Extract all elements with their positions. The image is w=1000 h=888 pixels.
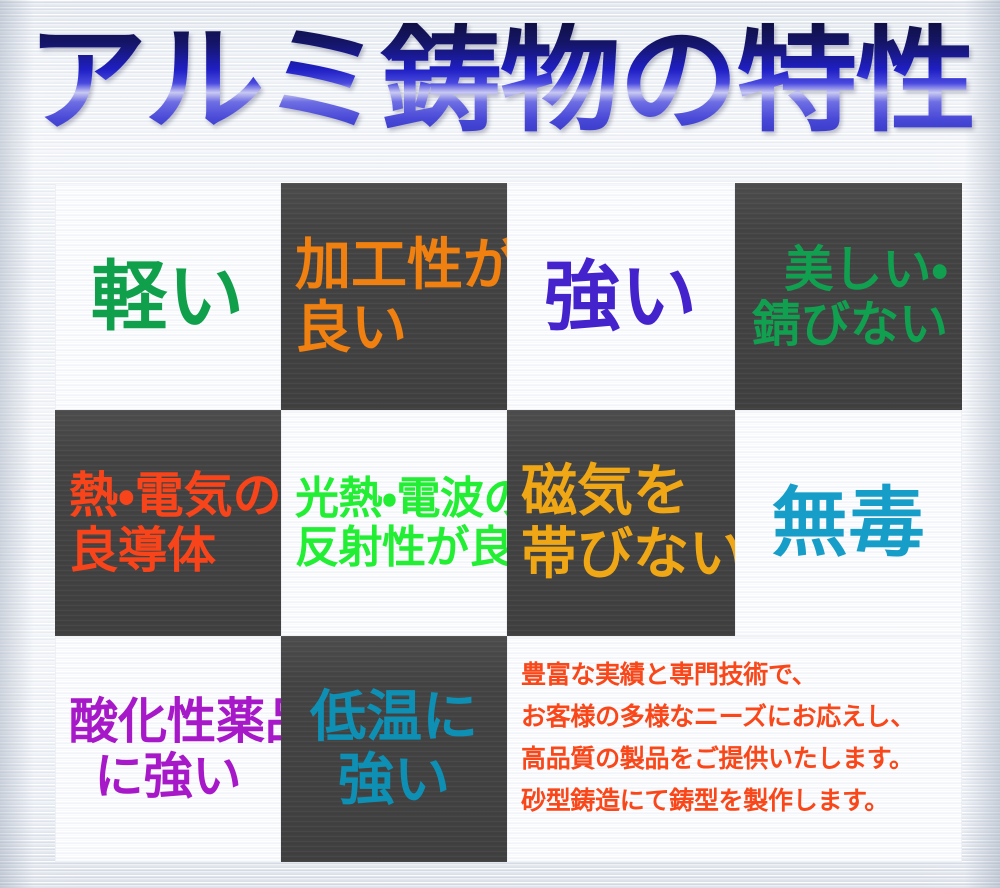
cell-reflectivity-line-2: 反射性が良い xyxy=(295,523,493,572)
cell-light-weight: 軽い xyxy=(55,183,281,410)
cell-low-temperature-label: 低温に強い xyxy=(281,686,507,811)
cell-non-toxic: 無毒 xyxy=(735,410,962,636)
page-title: アルミ鋳物の特性 xyxy=(26,23,973,139)
cell-non-magnetic-line-2: 帯びない xyxy=(521,523,721,586)
cell-acid-resistant-line-1: 酸化性薬品 xyxy=(69,694,267,749)
cell-company-note: 豊富な実績と専門技術で、お客様の多様なニーズにお応えし、高品質の製品をご提供いた… xyxy=(507,636,962,862)
cell-light-weight-line-1: 軽い xyxy=(69,254,267,339)
cell-machinability: 加工性が良い xyxy=(281,183,507,410)
slide-root: アルミ鋳物の特性 軽い加工性が良い強い美しい・錆びない熱・電気の良導体光熱・電波… xyxy=(0,0,1000,888)
cell-reflectivity-label: 光熱・電波の反射性が良い xyxy=(281,474,507,573)
cell-reflectivity-line-1: 光熱・電波の xyxy=(295,474,493,523)
cell-non-magnetic: 磁気を帯びない xyxy=(507,410,735,636)
cell-acid-resistant: 酸化性薬品に強い xyxy=(55,636,281,862)
cell-heat-electric-conductor-label: 熱・電気の良導体 xyxy=(55,468,281,578)
cell-strong-line-1: 強い xyxy=(521,254,721,339)
cell-company-note-line-1: 豊富な実績と専門技術で、 xyxy=(521,654,954,696)
cell-non-toxic-label: 無毒 xyxy=(735,480,962,565)
cell-beautiful-rustfree-label: 美しい・錆びない xyxy=(735,242,962,352)
cell-non-toxic-line-1: 無毒 xyxy=(749,480,948,565)
cell-machinability-label: 加工性が良い xyxy=(281,234,507,359)
cell-company-note-line-2: お客様の多様なニーズにお応えし、 xyxy=(521,696,954,738)
title-banner: アルミ鋳物の特性 xyxy=(0,6,1000,156)
cell-low-temperature-line-1: 低温に xyxy=(295,686,493,749)
cell-acid-resistant-line-2: に強い xyxy=(69,749,267,804)
cell-company-note-text: 豊富な実績と専門技術で、お客様の多様なニーズにお応えし、高品質の製品をご提供いた… xyxy=(507,654,962,822)
cell-low-temperature-line-2: 強い xyxy=(295,749,493,812)
cell-beautiful-rustfree: 美しい・錆びない xyxy=(735,183,962,410)
cell-company-note-line-3: 高品質の製品をご提供いたします。 xyxy=(521,738,954,780)
cell-low-temperature: 低温に強い xyxy=(281,636,507,862)
cell-company-note-line-4: 砂型鋳造にて鋳型を製作します。 xyxy=(521,780,954,822)
cell-beautiful-rustfree-line-1: 美しい・ xyxy=(749,242,948,297)
cell-strong: 強い xyxy=(507,183,735,410)
cell-non-magnetic-line-1: 磁気を xyxy=(521,460,721,523)
cell-strong-label: 強い xyxy=(507,254,735,339)
cell-reflectivity: 光熱・電波の反射性が良い xyxy=(281,410,507,636)
cell-heat-electric-conductor-line-2: 良導体 xyxy=(69,523,267,578)
cell-heat-electric-conductor: 熱・電気の良導体 xyxy=(55,410,281,636)
cell-beautiful-rustfree-line-2: 錆びない xyxy=(749,297,948,352)
cell-machinability-line-2: 良い xyxy=(295,297,493,360)
feature-grid: 軽い加工性が良い強い美しい・錆びない熱・電気の良導体光熱・電波の反射性が良い磁気… xyxy=(55,183,962,862)
cell-acid-resistant-label: 酸化性薬品に強い xyxy=(55,694,281,804)
cell-heat-electric-conductor-line-1: 熱・電気の xyxy=(69,468,267,523)
cell-light-weight-label: 軽い xyxy=(55,254,281,339)
cell-machinability-line-1: 加工性が xyxy=(295,234,493,297)
cell-non-magnetic-label: 磁気を帯びない xyxy=(507,460,735,585)
